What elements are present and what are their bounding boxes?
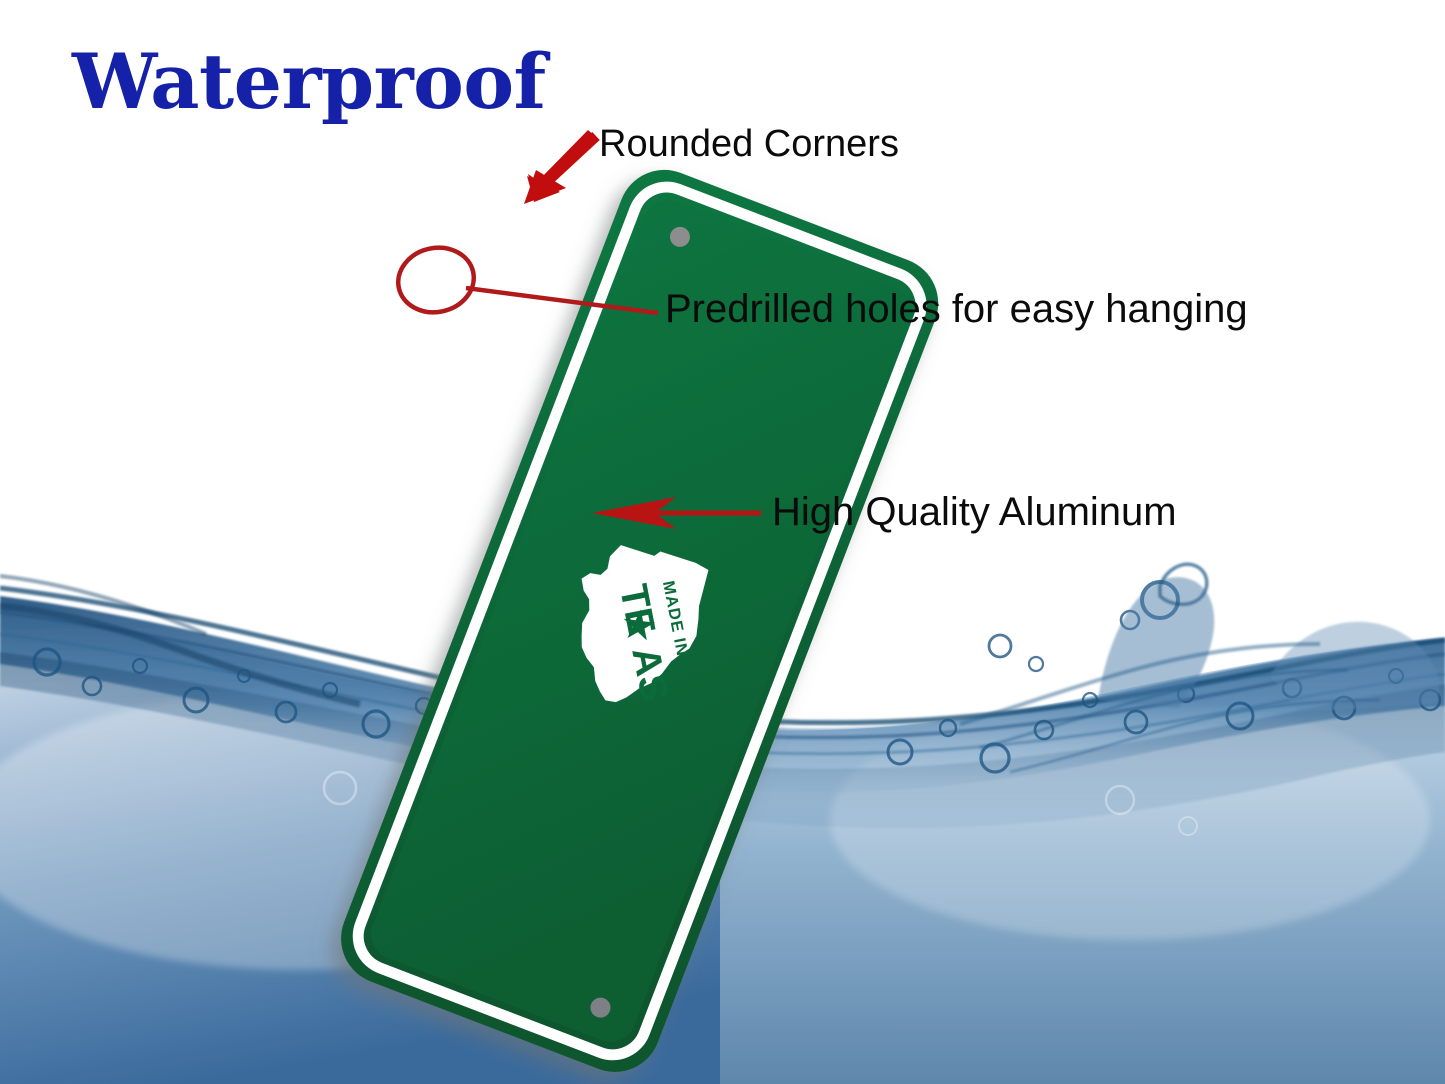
product-feature-graphic: MADE IN TE ★ AS [0, 0, 1445, 1084]
predrilled-holes-callout-icon [392, 241, 658, 319]
rounded-corners-arrow-icon [524, 130, 598, 204]
page-title: Waterproof [72, 44, 546, 120]
hole-highlight-ellipse [392, 241, 480, 319]
aluminum-arrow-icon [592, 497, 761, 529]
hole-leader-line [466, 288, 658, 313]
callout-rounded-corners: Rounded Corners [599, 123, 899, 166]
callout-high-quality-aluminum: High Quality Aluminum [772, 490, 1177, 535]
callout-predrilled-holes: Predrilled holes for easy hanging [665, 287, 1248, 332]
